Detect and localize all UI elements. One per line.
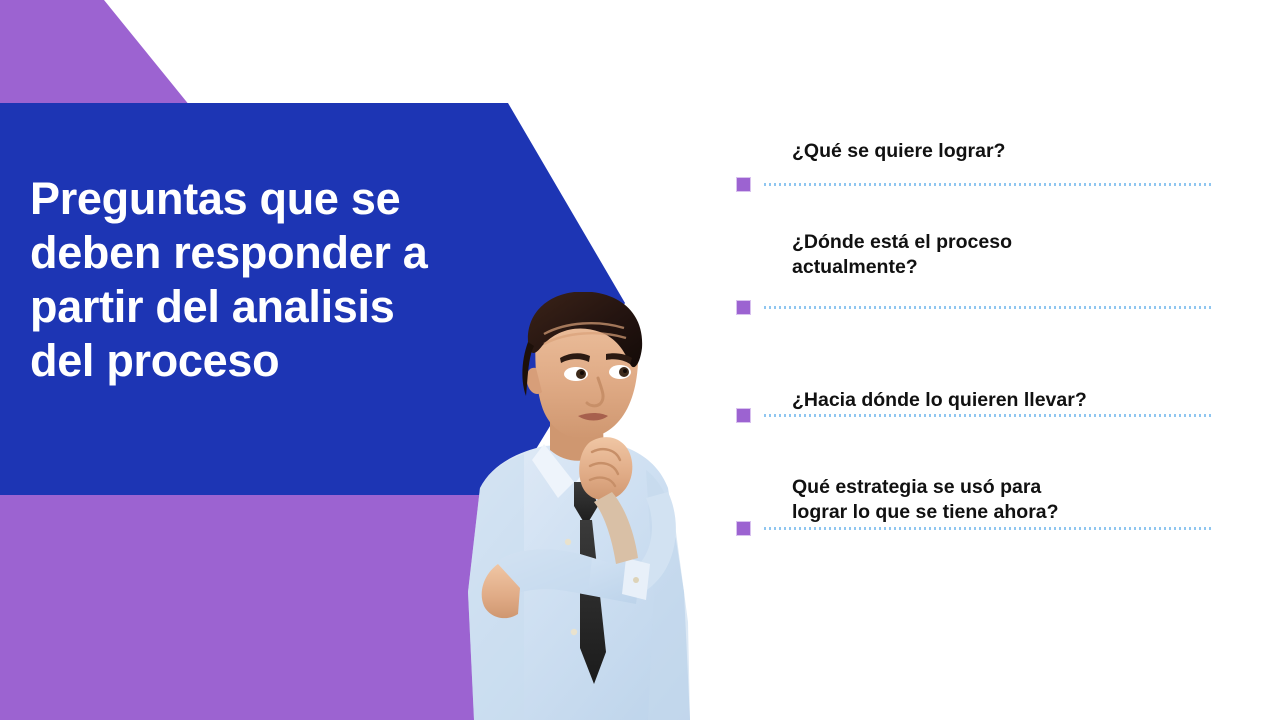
bullet-square-icon [736,408,751,423]
question-text: ¿Dónde está el proceso actualmente? [792,230,1012,280]
dotted-rule [764,183,1212,186]
question-text: ¿Qué se quiere lograr? [792,139,1005,164]
dotted-rule [764,527,1212,530]
question-text: ¿Hacia dónde lo quieren llevar? [792,388,1087,413]
purple-accent-top-left [0,0,190,106]
bullet-square-icon [736,300,751,315]
thinking-businessman-photo [440,292,720,720]
question-text: Qué estrategia se usó para lograr lo que… [792,475,1059,525]
slide-canvas: Preguntas que se deben responder a parti… [0,0,1280,720]
bullet-square-icon [736,177,751,192]
bullet-square-icon [736,521,751,536]
dotted-rule [764,306,1212,309]
questions-list: ¿Qué se quiere lograr? ¿Dónde está el pr… [736,120,1236,560]
dotted-rule [764,414,1212,417]
